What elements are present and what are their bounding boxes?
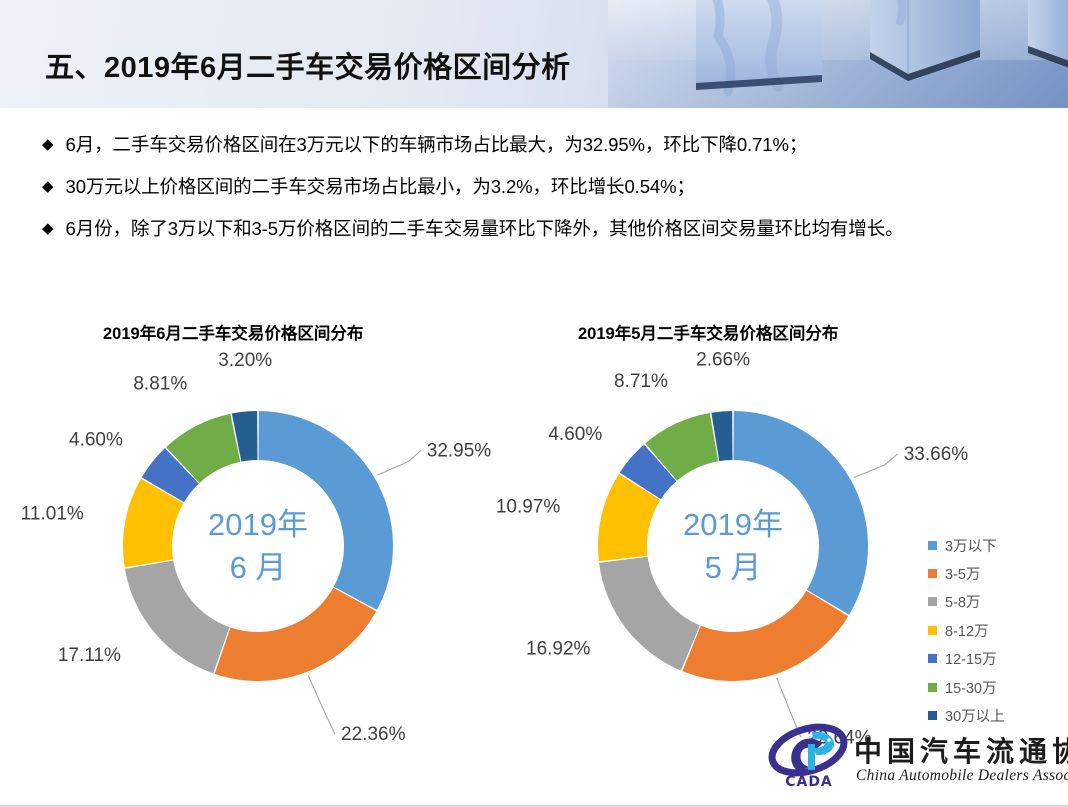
bullet-text: 6月份，除了3万以下和3-5万价格区间的二手车交易量环比下降外，其他价格区间交易…	[66, 218, 904, 240]
slice-value-label: 2.66%	[696, 350, 750, 371]
list-item: ◆ 6月份，除了3万以下和3-5万价格区间的二手车交易量环比下降外，其他价格区间…	[42, 218, 1042, 243]
svg-text:CADA: CADA	[785, 774, 833, 790]
bullet-text: 6月，二手车交易价格区间在3万元以下的车辆市场占比最大，为32.95%，环比下降…	[66, 134, 808, 156]
legend-swatch-icon	[928, 569, 937, 578]
cada-logo: CADA 中国汽车流通协会 China Automobile Dealers A…	[768, 726, 1060, 792]
bullet-list: ◆ 6月，二手车交易价格区间在3万元以下的车辆市场占比最大，为32.95%，环比…	[42, 134, 1042, 260]
legend-label: 8-12万	[945, 620, 989, 641]
slice-value-label: 32.95%	[427, 440, 492, 461]
label-leader-line	[378, 450, 421, 475]
legend-item-2[interactable]: 5-8万	[928, 588, 1058, 616]
legend-label: 12-15万	[945, 648, 997, 669]
donut-slice[interactable]	[125, 561, 230, 674]
slice-value-label: 17.11%	[58, 645, 121, 666]
donut-center-line1: 2019年	[683, 507, 783, 542]
diamond-bullet-icon: ◆	[42, 218, 54, 240]
legend-swatch-icon	[928, 711, 937, 720]
slice-value-label: 33.66%	[904, 444, 969, 465]
bullet-text: 30万元以上价格区间的二手车交易市场占比最小，为3.2%，环比增长0.54%；	[66, 176, 695, 198]
slice-value-label: 10.97%	[496, 496, 561, 517]
legend-swatch-icon	[928, 597, 937, 606]
slice-value-label: 8.81%	[133, 374, 187, 395]
legend-label: 5-8万	[945, 591, 980, 612]
donut-center-line2: 5 月	[705, 550, 762, 585]
chart-title-june: 2019年6月二手车交易价格区间分布	[103, 320, 363, 344]
legend-swatch-icon	[928, 683, 937, 692]
donut-chart-may: 33.66%22.64%16.92%10.97%4.60%8.71%2.66% …	[535, 380, 975, 710]
diamond-bullet-icon: ◆	[42, 134, 54, 156]
legend-swatch-icon	[928, 654, 937, 663]
label-leader-line	[308, 676, 335, 734]
donut-slices	[123, 411, 393, 681]
legend-item-5[interactable]: 15-30万	[928, 673, 1058, 701]
cada-fish-ellipse-logo-icon: CADA	[768, 726, 850, 790]
legend-swatch-icon	[928, 541, 937, 550]
diamond-bullet-icon: ◆	[42, 176, 54, 198]
donut-center-line2: 6 月	[230, 550, 287, 585]
slice-value-label: 3.20%	[218, 350, 272, 371]
legend-label: 30万以上	[945, 705, 1005, 726]
slice-value-label: 11.01%	[21, 503, 84, 524]
header-band: 五、2019年6月二手车交易价格区间分析	[0, 0, 1068, 108]
donut-slice[interactable]	[599, 557, 700, 671]
slice-value-label: 16.92%	[526, 638, 591, 659]
page-title: 五、2019年6月二手车交易价格区间分析	[45, 44, 571, 86]
donut-slice[interactable]	[215, 588, 376, 681]
legend-label: 15-30万	[945, 677, 997, 698]
donut-center-line1: 2019年	[208, 507, 308, 542]
slice-value-label: 22.36%	[341, 724, 406, 745]
legend-label: 3-5万	[945, 563, 980, 584]
label-leader-line	[854, 454, 898, 478]
logo-chinese-name: 中国汽车流通协会	[854, 730, 1068, 770]
list-item: ◆ 6月，二手车交易价格区间在3万元以下的车辆市场占比最大，为32.95%，环比…	[42, 134, 1042, 159]
legend-item-3[interactable]: 8-12万	[928, 616, 1058, 644]
slice-value-label: 4.60%	[69, 429, 123, 450]
donut-value-labels: 33.66%22.64%16.92%10.97%4.60%8.71%2.66%	[496, 350, 968, 749]
legend-item-1[interactable]: 3-5万	[928, 559, 1058, 587]
slide-canvas: 五、2019年6月二手车交易价格区间分析 ◆ 6月，二手车交易价格区间在3万元以…	[0, 0, 1068, 807]
legend-label: 3万以下	[945, 535, 997, 556]
donut-slices	[598, 411, 868, 681]
chart-legend: 3万以下 3-5万 5-8万 8-12万 12-15万 15-30万 30万以上	[928, 531, 1058, 730]
list-item: ◆ 30万元以上价格区间的二手车交易市场占比最小，为3.2%，环比增长0.54%…	[42, 176, 1042, 201]
blue-cubes-world-map-decoration	[608, 0, 1068, 108]
legend-swatch-icon	[928, 626, 937, 635]
donut-value-labels: 32.95%22.36%17.11%11.01%4.60%8.81%3.20%	[21, 350, 492, 745]
slice-value-label: 8.71%	[614, 371, 668, 392]
legend-item-0[interactable]: 3万以下	[928, 531, 1058, 559]
logo-english-name: China Automobile Dealers Association	[856, 767, 1068, 785]
donut-chart-june: 32.95%22.36%17.11%11.01%4.60%8.81%3.20% …	[60, 380, 500, 710]
donut-slice[interactable]	[682, 591, 848, 681]
legend-item-4[interactable]: 12-15万	[928, 645, 1058, 673]
chart-title-may: 2019年5月二手车交易价格区间分布	[578, 320, 838, 344]
slice-value-label: 4.60%	[548, 424, 602, 445]
